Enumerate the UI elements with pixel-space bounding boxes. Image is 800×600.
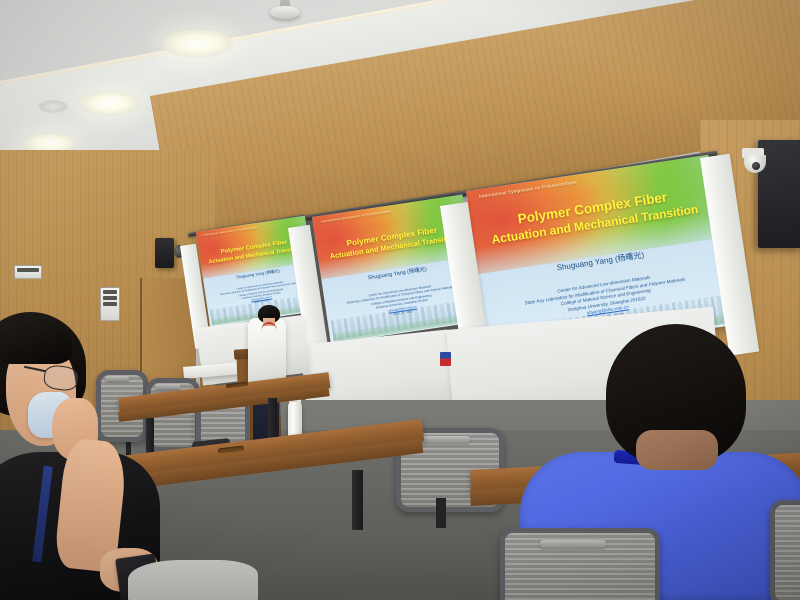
wall-sticker xyxy=(440,352,451,366)
ceiling-downlight-off xyxy=(38,100,68,113)
light-switch-panel[interactable] xyxy=(100,287,120,321)
chair-back[interactable] xyxy=(770,500,800,600)
camera-lens-icon xyxy=(752,162,760,170)
lecture-hall-photo: International Symposium on Polyelectroly… xyxy=(0,0,800,600)
audience-right-neck xyxy=(636,430,718,470)
chair-post xyxy=(436,498,446,528)
chair-handle[interactable] xyxy=(105,376,129,381)
wall-speaker-left xyxy=(155,238,174,268)
light-switch-panel[interactable] xyxy=(14,265,42,279)
presenter-lanyard xyxy=(261,322,277,340)
audience-left-lap xyxy=(128,560,258,600)
audience-left-hair-front xyxy=(0,318,72,364)
chair-handle[interactable] xyxy=(155,384,181,389)
smoke-detector-icon xyxy=(270,6,300,19)
chair-back[interactable] xyxy=(500,528,660,600)
chair-handle[interactable] xyxy=(420,436,470,443)
ceiling-downlight xyxy=(78,90,140,116)
ceiling-downlight xyxy=(160,28,234,58)
table-leg xyxy=(352,470,363,530)
chair-handle[interactable] xyxy=(540,540,606,548)
